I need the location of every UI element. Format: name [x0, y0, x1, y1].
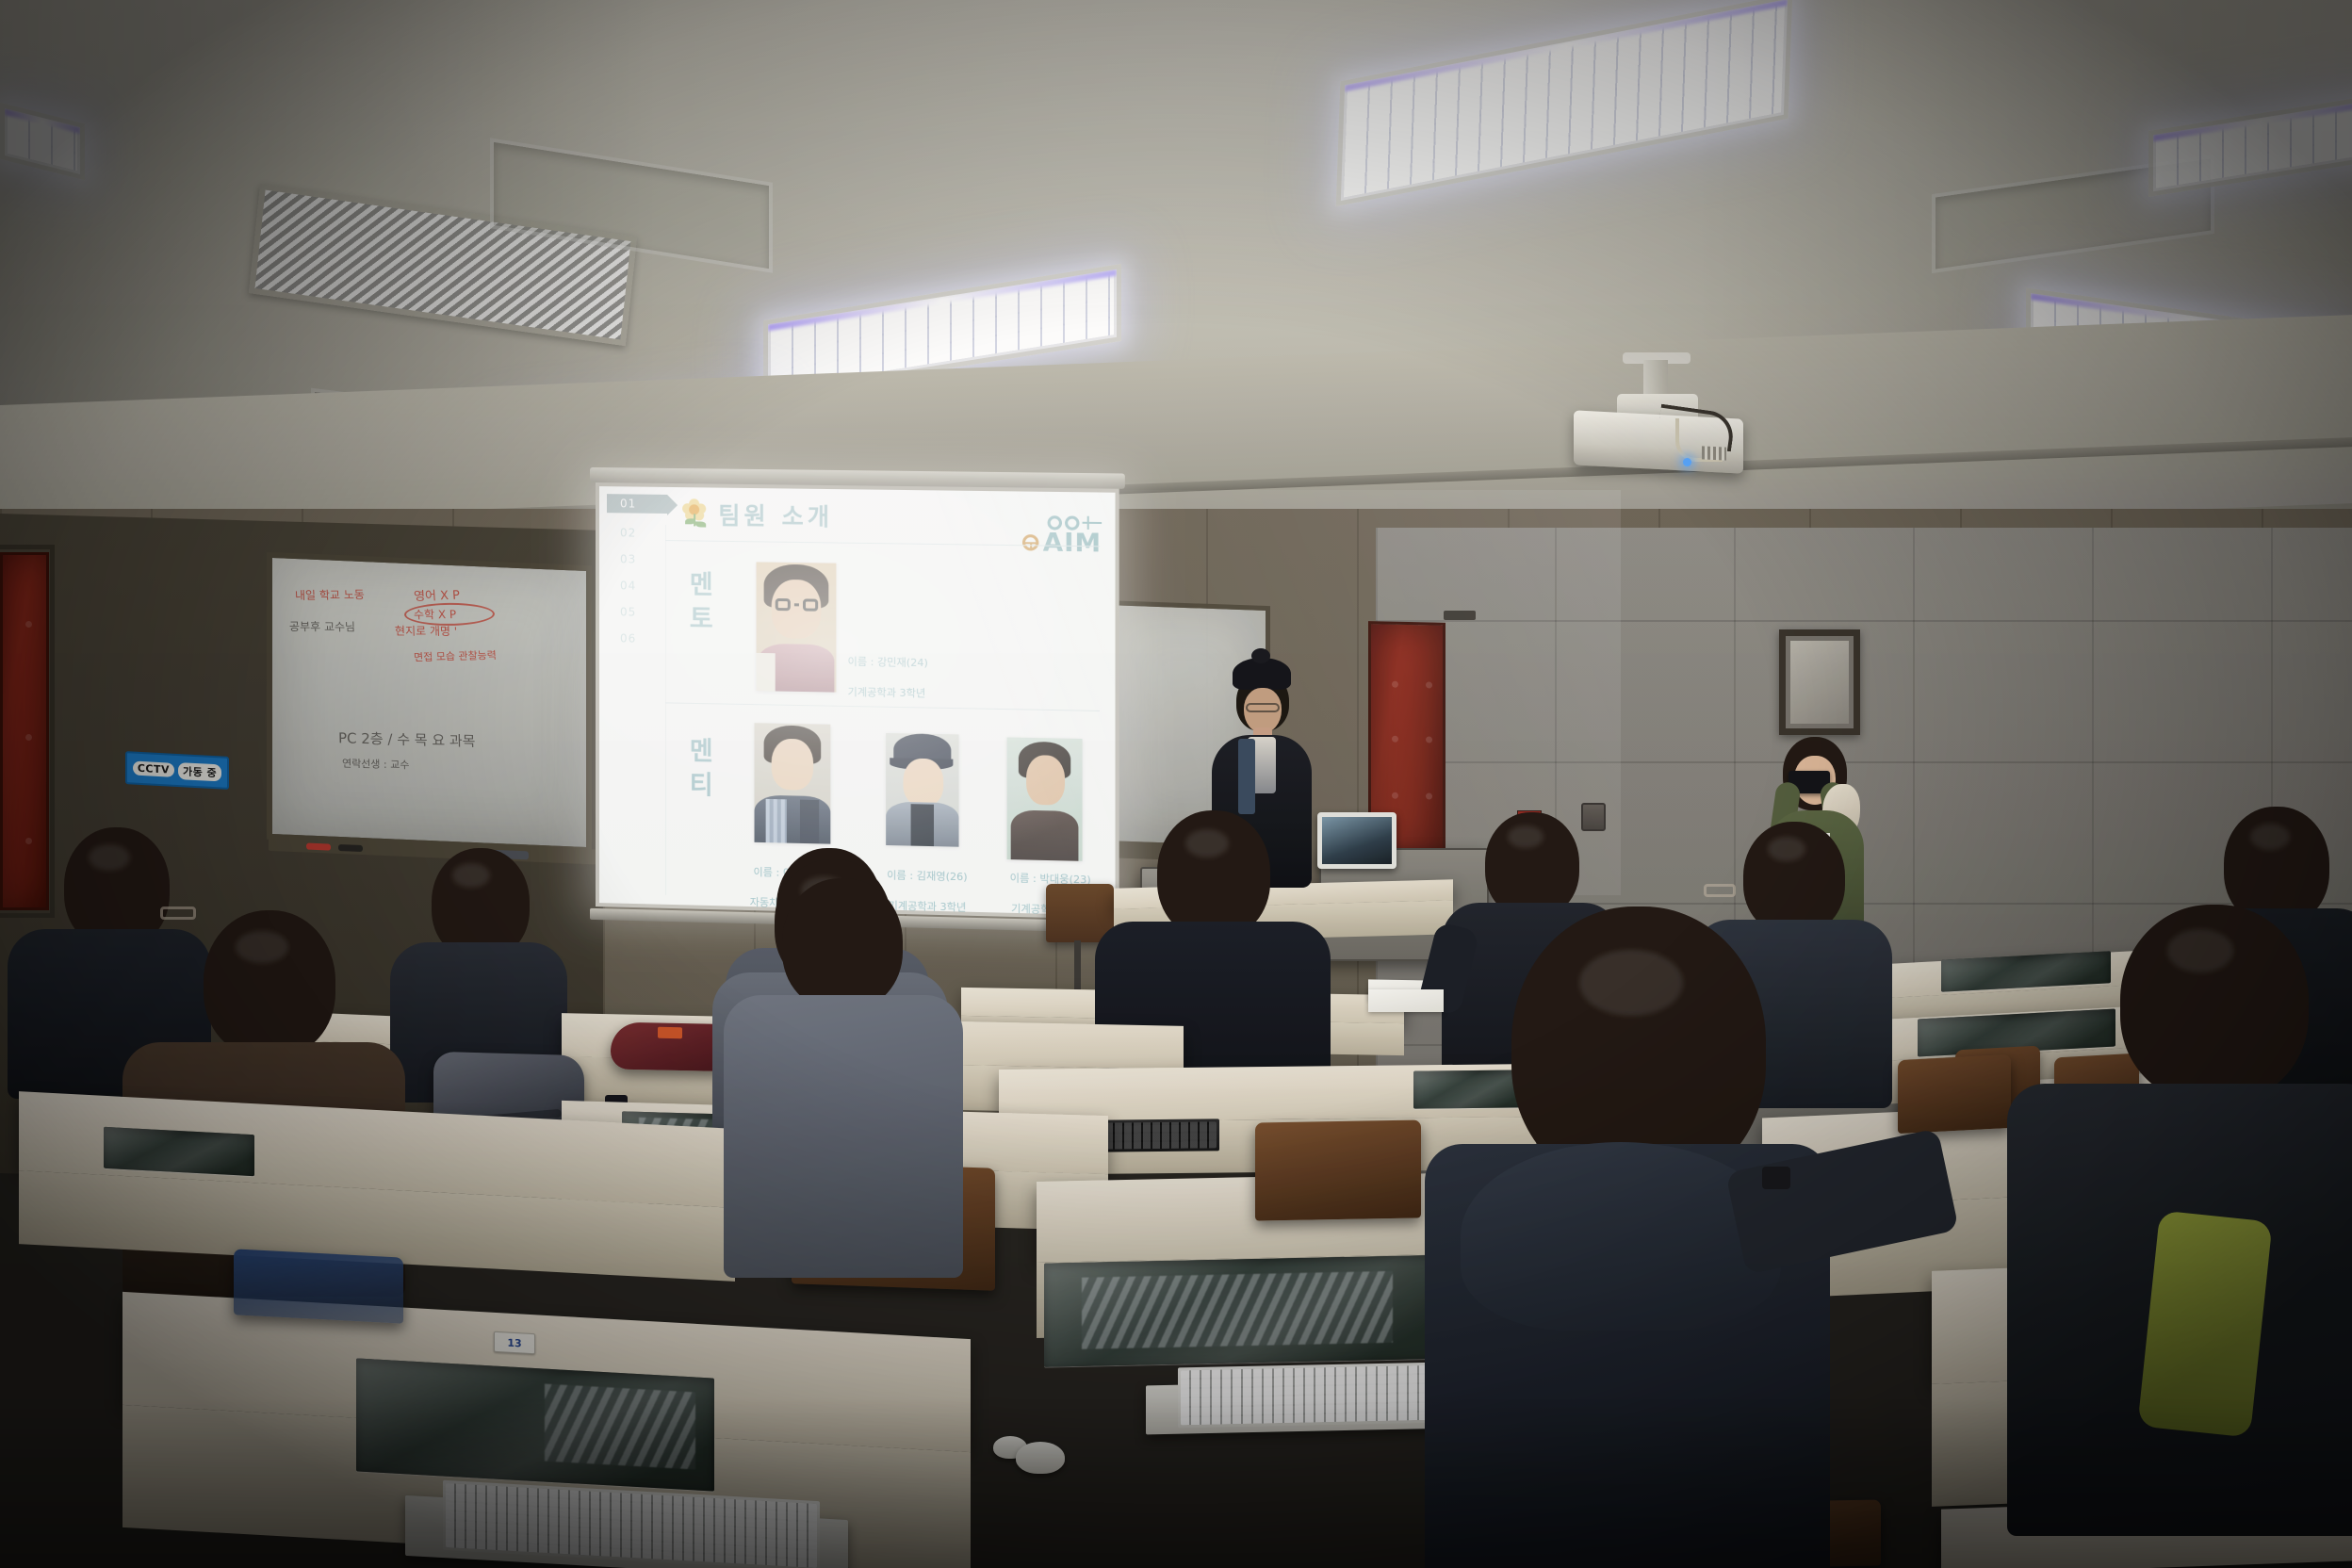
mentor-photo — [757, 562, 837, 692]
mentor-caption-dept: 기계공학과 3학년 — [848, 685, 982, 703]
monitor-well-front-left — [104, 1127, 254, 1176]
slide-nav-item-06[interactable]: 06 — [607, 631, 636, 645]
slide-nav: 01 02 03 04 05 06 — [607, 494, 665, 645]
steering-wheel-icon — [1022, 534, 1038, 550]
slide-nav-item-01[interactable]: 01 — [607, 494, 667, 514]
mentor-caption-name: 이름 : 강민재(24) — [848, 654, 982, 672]
jacket-label-tag — [658, 1027, 682, 1039]
section-label-mentee: 멘티 — [682, 735, 720, 805]
keyboard-row2[interactable] — [1102, 1119, 1219, 1151]
monitor-well-front-mid — [1044, 1254, 1459, 1366]
audience-foreground-center-hood — [1461, 1142, 1781, 1331]
audience-foreground-left — [724, 878, 959, 1274]
chair-front-leg — [1074, 940, 1081, 989]
cctv-sign-badge-1: CCTV — [133, 761, 174, 777]
wall-picture-frame — [1779, 629, 1860, 735]
ceiling-projector — [1564, 360, 1753, 473]
slide-nav-item-02[interactable]: 02 — [607, 526, 636, 539]
chair-blue-left[interactable] — [234, 1249, 403, 1323]
flower-icon — [682, 498, 707, 529]
whiteboard-marker-black — [338, 844, 363, 852]
slide-nav-item-04[interactable]: 04 — [607, 579, 636, 592]
slide-vertical-rule — [665, 525, 666, 895]
presenter-inner-jacket — [1238, 739, 1255, 814]
gear-icon-1 — [1048, 515, 1062, 530]
floor-shadow — [0, 1398, 2352, 1568]
presenter-beanie-pom — [1251, 648, 1270, 663]
crosshair-icon — [1083, 516, 1102, 530]
desk-number-label: 13 — [494, 1331, 535, 1354]
gear-icon-2 — [1065, 515, 1079, 530]
aim-logo-text: AIM — [1043, 530, 1102, 556]
projector-power-led — [1683, 458, 1691, 466]
section-label-mentor: 멘토 — [682, 568, 720, 638]
slide-header: 팀원 소개 — [682, 497, 833, 532]
chair-mid-left[interactable] — [1255, 1119, 1421, 1220]
audience-foreground-right-watch — [1762, 1167, 1790, 1189]
mentee-photo-1 — [755, 723, 831, 843]
presenter-glasses — [1246, 703, 1280, 712]
mentee-photo-2 — [886, 733, 958, 847]
slide-nav-item-05[interactable]: 05 — [607, 605, 636, 619]
cctv-sign: CCTV 가동 중 — [125, 751, 229, 790]
aim-logo: AIM — [1022, 513, 1102, 557]
cctv-sign-badge-2: 가동 중 — [178, 762, 221, 781]
whiteboard-left: 내일 학교 노동 영어 X P 수학 X P 공부후 교수님 현지로 개명 ' … — [267, 552, 592, 853]
slide-title: 팀원 소개 — [718, 498, 833, 533]
slide-nav-item-03[interactable]: 03 — [607, 552, 636, 565]
whiteboard-marker-red — [306, 843, 331, 851]
classroom-scene: 내일 학교 노동 영어 X P 수학 X P 공부후 교수님 현지로 개명 ' … — [0, 0, 2352, 1568]
door-right-closer — [1444, 611, 1476, 620]
mentor-caption: 이름 : 강민재(24) 기계공학과 3학년 — [848, 639, 982, 717]
audience-right-1-glasses — [1704, 884, 1736, 897]
mentee-photo-3 — [1007, 737, 1083, 860]
